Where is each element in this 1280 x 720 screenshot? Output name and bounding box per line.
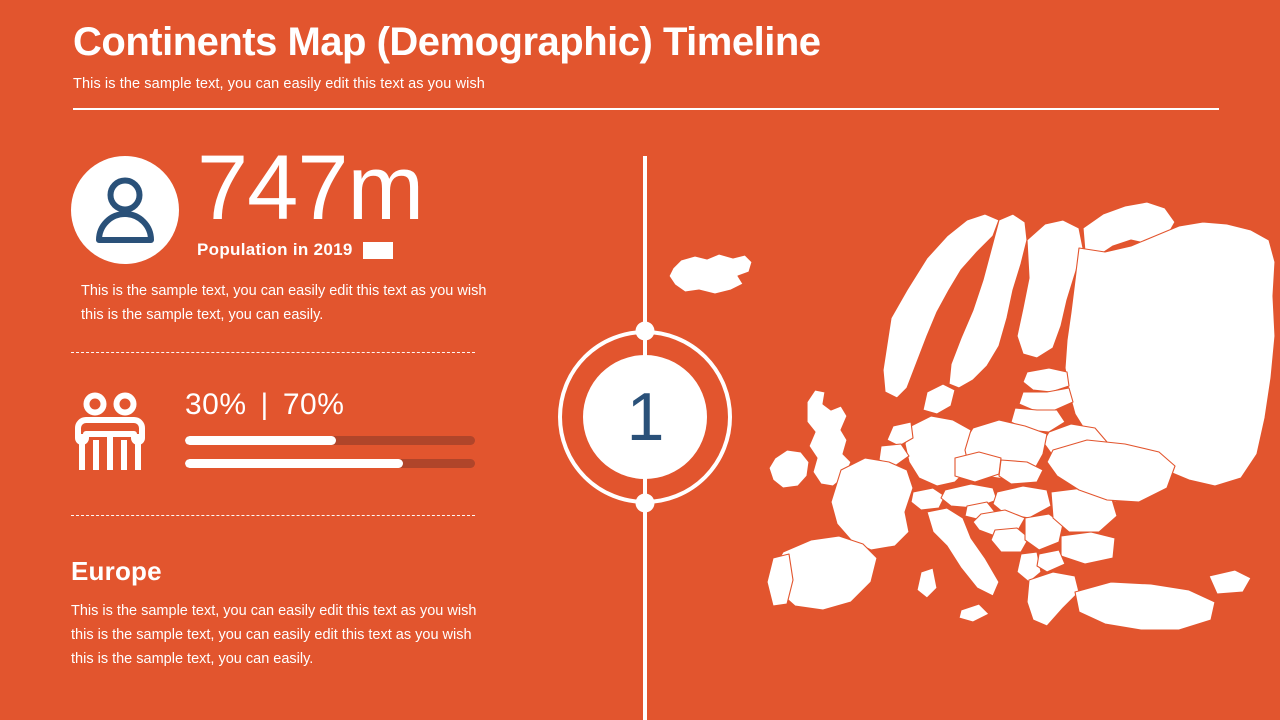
section-divider-one <box>71 352 475 353</box>
ratio-values: 30%|70% <box>185 388 475 422</box>
country-france <box>831 458 913 550</box>
section-divider-two <box>71 515 475 516</box>
left-content-column: 747m Population in 2019 This is the samp… <box>0 0 540 720</box>
country-georgia <box>1209 570 1251 594</box>
population-description: This is the sample text, you can easily … <box>81 279 501 327</box>
country-north-macedonia <box>1037 550 1065 572</box>
europe-map <box>655 140 1280 720</box>
ratio-right-value: 70% <box>283 388 345 421</box>
country-estonia <box>1023 368 1069 392</box>
country-turkey <box>1075 582 1215 630</box>
population-label: Population in 2019 <box>197 240 353 260</box>
country-sardinia <box>917 568 937 598</box>
population-figures: 747m Population in 2019 <box>197 142 497 260</box>
person-icon <box>94 176 156 244</box>
progress-bar-two <box>185 459 475 468</box>
country-greece <box>1027 572 1079 626</box>
region-description: This is the sample text, you can easily … <box>71 599 491 671</box>
ratio-separator: | <box>247 388 283 421</box>
country-ireland <box>769 450 809 488</box>
country-denmark <box>923 384 955 414</box>
progress-bar-one <box>185 436 475 445</box>
progress-bar-two-fill <box>185 459 403 468</box>
timeline-node-bottom <box>636 494 655 513</box>
population-value: 747m <box>197 142 497 234</box>
ratio-left-value: 30% <box>185 388 247 421</box>
europe-map-svg <box>655 140 1280 720</box>
region-block: Europe This is the sample text, you can … <box>71 556 501 671</box>
timeline-node-top <box>636 322 655 341</box>
country-bulgaria <box>1061 532 1115 564</box>
timeline-line <box>643 156 647 720</box>
country-iceland <box>669 254 752 294</box>
country-switzerland <box>911 488 945 510</box>
country-bosnia <box>991 528 1029 552</box>
population-swatch <box>363 242 393 259</box>
population-label-row: Population in 2019 <box>197 240 497 260</box>
two-people-icon <box>71 392 149 472</box>
region-name: Europe <box>71 556 501 587</box>
progress-bar-one-fill <box>185 436 336 445</box>
avatar <box>71 156 179 264</box>
ratio-content: 30%|70% <box>185 388 475 468</box>
country-italy-sicily <box>959 604 989 622</box>
